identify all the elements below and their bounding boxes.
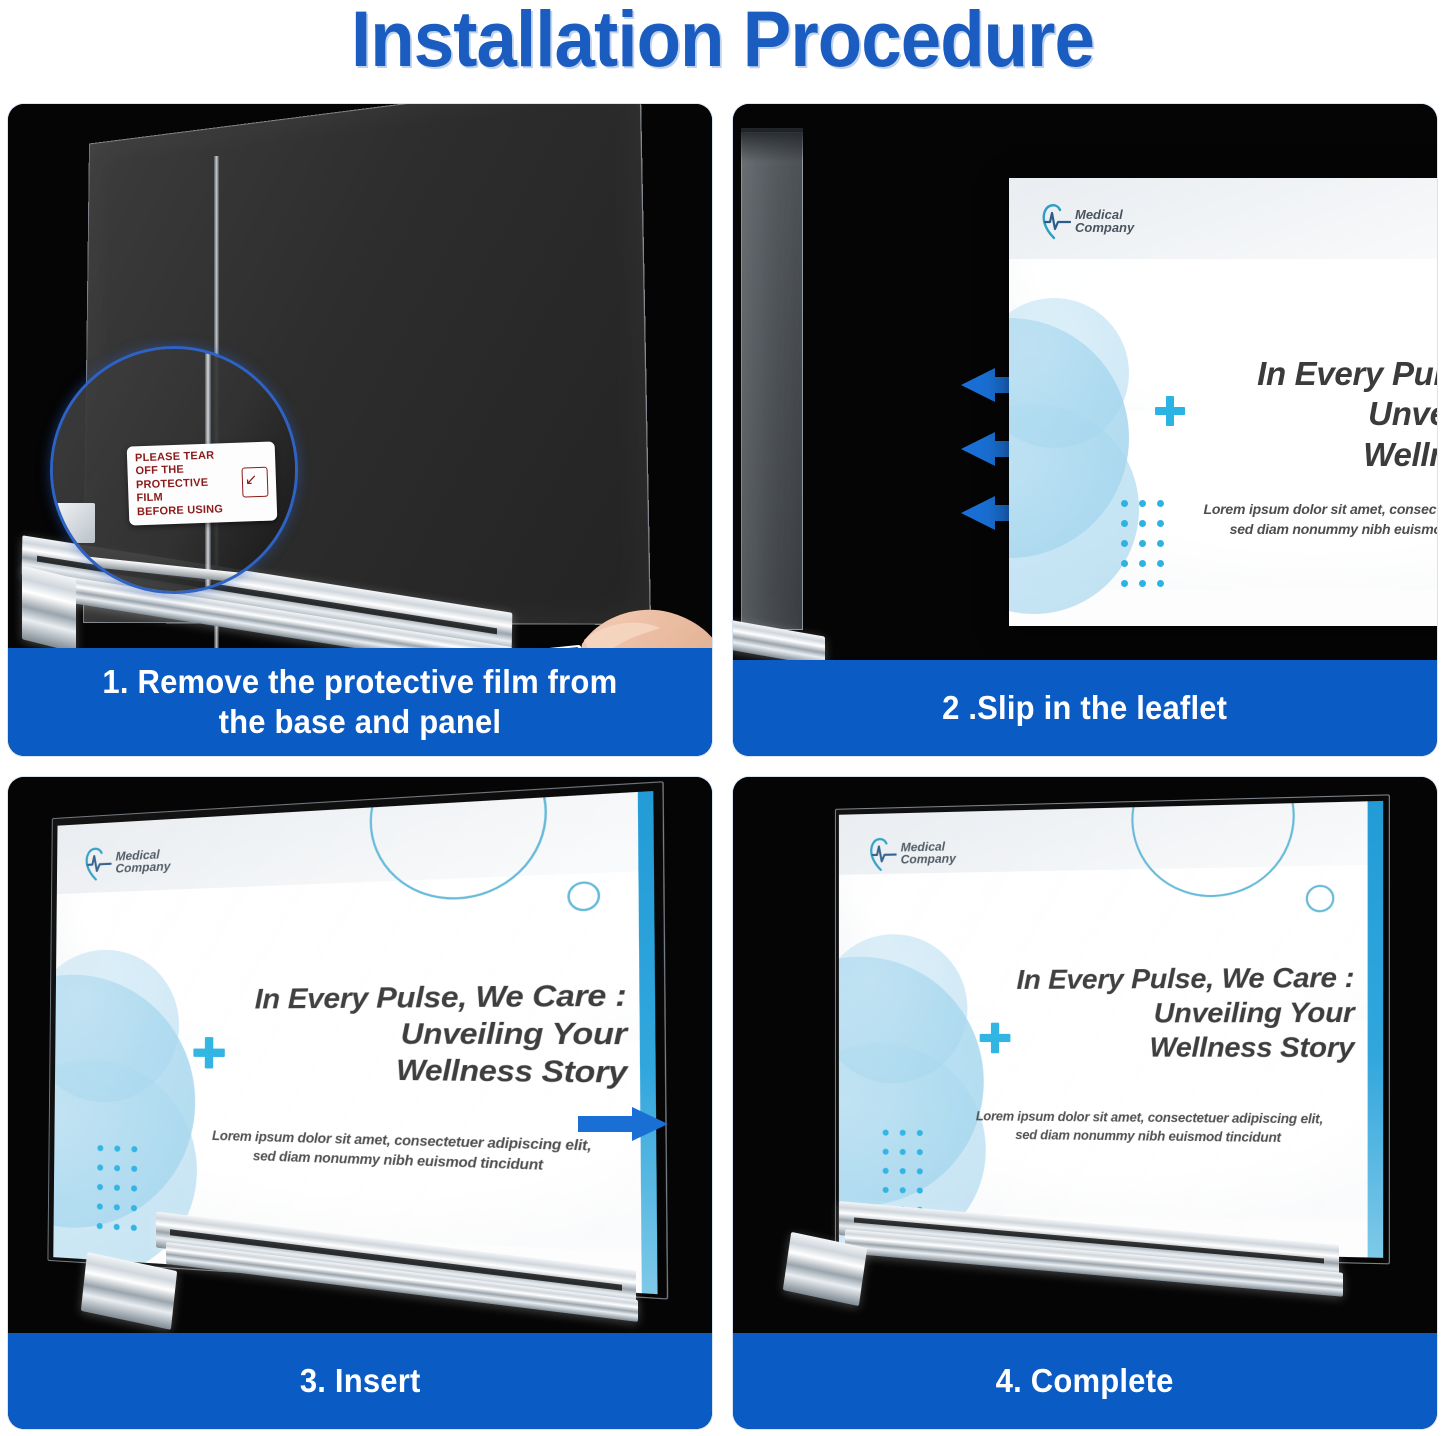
hand-peeling-film: [564, 578, 712, 648]
protective-film-warning-label: PLEASE TEAR OFF THE PROTECTIVE FILM BEFO…: [127, 441, 278, 525]
step-3-caption-line-1: 3. Insert: [300, 1361, 421, 1401]
page-title: Installation Procedure: [58, 0, 1387, 81]
step-1-caption-line-1: 1. Remove the protective film from: [103, 662, 618, 702]
step-panel-4: Medical Company: [733, 777, 1437, 1429]
body-line-1: Lorem ipsum dolor sit amet, consectetuer…: [1129, 500, 1437, 520]
leaflet-logo: Medical Company: [1041, 202, 1134, 240]
body-line-2: sed diam nonummy nibh euismod tincidu: [1129, 520, 1437, 540]
headline-line-1: In Every Pulse, We Ca: [1135, 354, 1437, 394]
step-panel-3: Medical Company: [8, 777, 712, 1429]
step-4-caption: 4. Complete: [733, 1333, 1437, 1429]
step-2-photo: Medical Company In Every Pulse, We Ca: [733, 104, 1437, 660]
step-panel-2: Medical Company In Every Pulse, We Ca: [733, 104, 1437, 756]
leaflet-headline: In Every Pulse, We Ca Unveiling Your Wel…: [1135, 354, 1437, 475]
steps-grid: PLEASE TEAR OFF THE PROTECTIVE FILM BEFO…: [8, 104, 1437, 1432]
step-4-photo: Medical Company: [733, 777, 1437, 1333]
peel-film-icon: [241, 466, 268, 497]
stand-top-shadow: [741, 128, 803, 162]
stand-assembly-angled: Medical Company: [40, 777, 674, 1314]
insert-arrow-right: [578, 1107, 668, 1141]
installation-procedure-infographic: Installation Procedure: [0, 0, 1445, 1436]
acrylic-front-pane-edge: [835, 794, 1390, 1264]
leaflet-sliding-in: Medical Company In Every Pulse, We Ca: [1009, 178, 1437, 626]
acrylic-front-pane-edge: [47, 781, 668, 1299]
warning-label-text: PLEASE TEAR OFF THE PROTECTIVE FILM BEFO…: [135, 449, 237, 519]
step-3-caption: 3. Insert: [8, 1333, 712, 1429]
step-1-caption-line-2: the base and panel: [103, 702, 618, 742]
step-1-photo: PLEASE TEAR OFF THE PROTECTIVE FILM BEFO…: [8, 104, 712, 648]
acrylic-stand-edge: [741, 132, 803, 630]
step-2-caption-line-1: 2 .Slip in the leaflet: [942, 688, 1227, 728]
logo-line-2: Company: [1075, 221, 1134, 234]
step-4-caption-line-1: 4. Complete: [996, 1361, 1174, 1401]
headline-line-3: Wellness Story: [1135, 435, 1437, 475]
step-1-caption: 1. Remove the protective film from the b…: [8, 648, 712, 756]
step-3-photo: Medical Company: [8, 777, 712, 1333]
headline-line-2: Unveiling Your: [1135, 394, 1437, 434]
leaflet-body-text: Lorem ipsum dolor sit amet, consectetuer…: [1129, 500, 1437, 540]
step-2-caption: 2 .Slip in the leaflet: [733, 660, 1437, 756]
medical-pulse-icon: [1041, 202, 1071, 240]
step-panel-1: PLEASE TEAR OFF THE PROTECTIVE FILM BEFO…: [8, 104, 712, 756]
